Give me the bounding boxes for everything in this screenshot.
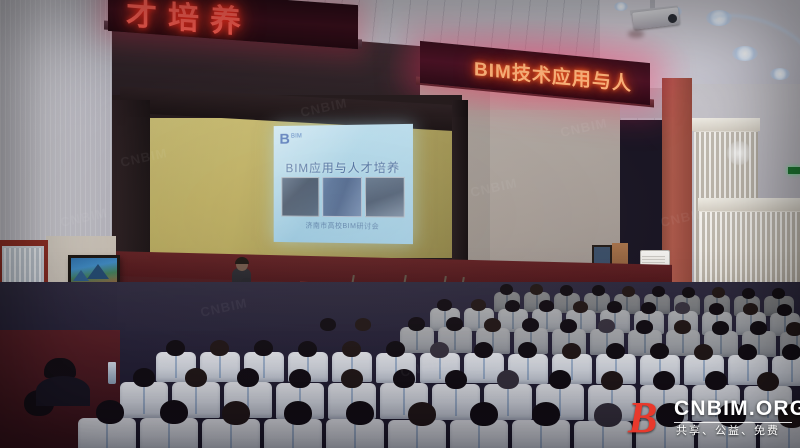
audience-head: [530, 284, 543, 295]
audience-head: [289, 369, 311, 388]
audience-head: [675, 302, 690, 314]
audience-head: [653, 371, 675, 390]
audience-head: [562, 343, 581, 359]
audience-head: [712, 321, 729, 335]
audience-head: [532, 402, 560, 426]
audience-head: [471, 299, 486, 311]
audience-head: [500, 284, 513, 295]
audience-head: [742, 288, 755, 299]
slide-image: [365, 177, 405, 218]
audience-head: [641, 302, 656, 314]
site-watermark: B CNBIM.ORG 共享、公益、免费: [628, 394, 796, 442]
audience-head: [222, 401, 250, 425]
audience-head: [342, 341, 361, 357]
audience-head: [757, 372, 779, 391]
exit-sign: [788, 167, 800, 174]
audience-head: [622, 286, 635, 297]
audience-head: [237, 368, 259, 387]
audience-head: [712, 287, 725, 298]
slide-title: BIM应用与人才培养: [274, 159, 413, 177]
audience-head: [674, 320, 691, 334]
slide-logo-letter: B: [279, 132, 289, 147]
watermark-logo-letter: B: [628, 396, 657, 440]
audience-head: [474, 342, 493, 358]
audience-head: [594, 403, 622, 427]
window-valance: [698, 198, 800, 211]
audience-head: [607, 301, 622, 313]
audience-head: [408, 317, 425, 331]
audience-head: [210, 340, 229, 356]
audience-head: [705, 371, 727, 390]
painting-mountain: [87, 264, 109, 279]
audience-head: [437, 299, 452, 311]
audience-head: [606, 343, 625, 359]
audience-head: [470, 402, 498, 426]
watermark-site-name: CNBIM.ORG: [674, 398, 800, 420]
slide-image-row: [281, 177, 404, 216]
audience-head: [408, 402, 436, 426]
photo-screenshot: 才培养 BIM技术应用与人 B BIM BIM应用与人才培养 济南市高校BIM研…: [0, 0, 800, 448]
audience-head: [355, 318, 371, 331]
audience-head: [709, 303, 724, 315]
wall-clock: [727, 141, 751, 165]
audience-head: [598, 319, 615, 333]
audience-head: [592, 285, 605, 296]
audience-head: [549, 370, 571, 389]
watermark-divider: [674, 422, 792, 423]
audience-head: [772, 288, 785, 299]
watermark-tagline: 共享、公益、免费: [676, 424, 780, 438]
audience-head: [522, 318, 539, 332]
audience-head: [560, 285, 573, 296]
audience-head: [341, 369, 363, 388]
audience-head: [560, 319, 577, 333]
audience-head: [786, 322, 800, 336]
air-conditioner-vent: [642, 256, 665, 264]
audience-head: [539, 300, 554, 312]
audience-head: [96, 400, 124, 424]
audience-head: [682, 287, 695, 298]
slide-logo: B BIM: [279, 131, 314, 146]
audience-head: [346, 401, 374, 425]
audience-head: [284, 401, 312, 425]
water-bottle: [108, 362, 116, 384]
audience-head: [518, 342, 537, 358]
slide-subtitle: 济南市高校BIM研讨会: [274, 220, 413, 232]
audience-head: [601, 371, 623, 390]
audience-head: [694, 344, 713, 360]
audience-head: [445, 370, 467, 389]
audience-head: [446, 317, 463, 331]
slide-logo-word: BIM: [291, 134, 302, 140]
audience-head: [386, 341, 405, 357]
audience-head: [166, 340, 185, 356]
audience-head: [636, 320, 653, 334]
ceiling-light: [614, 2, 628, 11]
audience-head: [750, 321, 767, 335]
audience-head: [133, 368, 155, 387]
audience-head: [738, 344, 757, 360]
audience-head: [743, 303, 758, 315]
audience-head: [652, 286, 665, 297]
audience-head: [497, 370, 519, 389]
audience-head: [298, 341, 317, 357]
audience-shoulders: [36, 376, 90, 406]
audience-head: [320, 318, 336, 331]
audience-head: [393, 369, 415, 388]
projection-screen: B BIM BIM应用与人才培养 济南市高校BIM研讨会: [274, 124, 413, 244]
audience-head: [254, 340, 273, 356]
audience-head: [782, 344, 800, 360]
slide-image: [281, 177, 319, 217]
audience-head: [650, 343, 669, 359]
audience-head-with-cap: [44, 358, 76, 378]
audience-head: [430, 342, 449, 358]
ceiling-smudge: [628, 30, 644, 38]
audience-head: [505, 300, 520, 312]
presenter-hair: [235, 257, 249, 264]
slide-image: [323, 177, 362, 217]
left-wall-texture: [0, 0, 112, 250]
audience-head: [185, 368, 207, 387]
window-valance: [692, 118, 760, 131]
audience-head: [777, 304, 792, 316]
audience-head: [484, 318, 501, 332]
led-banner-main-text: BIM技术应用与人: [474, 54, 632, 96]
audience-head: [573, 301, 588, 313]
audience-head: [160, 400, 188, 424]
